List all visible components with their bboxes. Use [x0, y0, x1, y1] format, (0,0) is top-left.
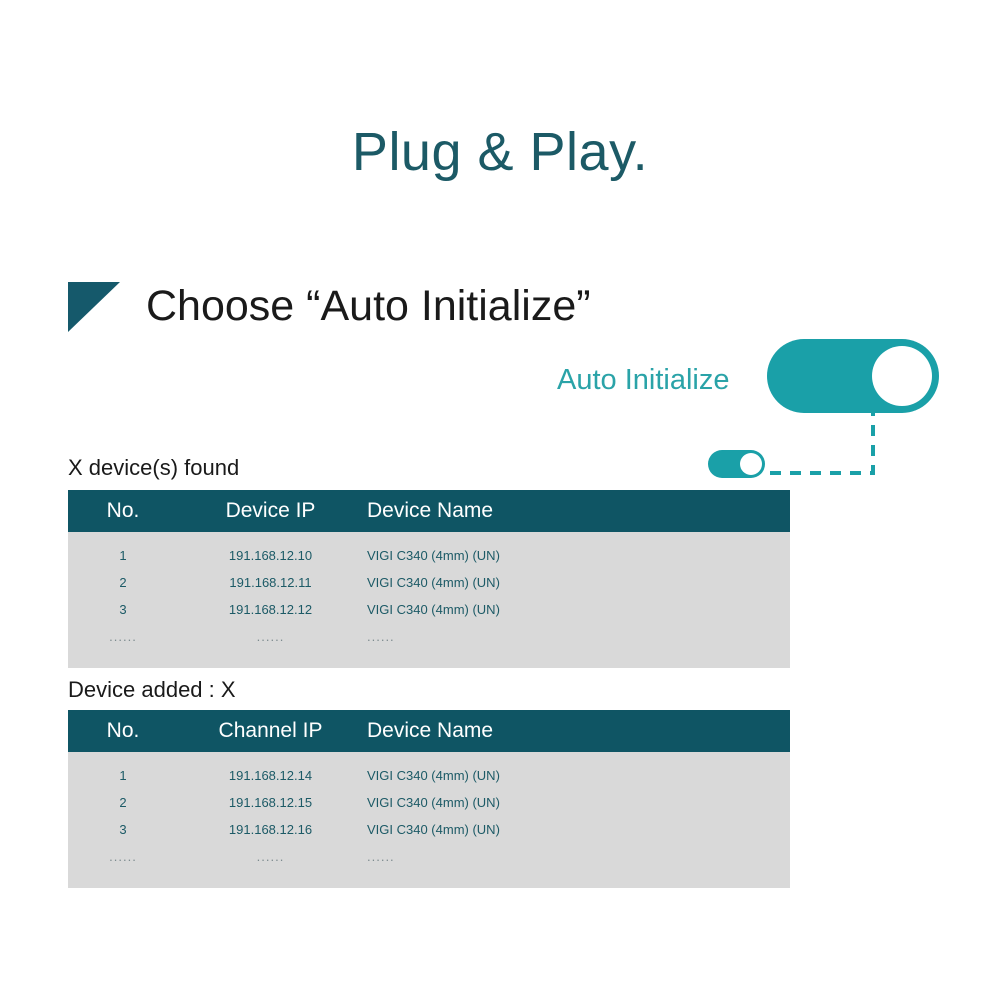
table-row-ellipsis: ...... ...... ......	[68, 843, 790, 870]
cell-name-ellipsis: ......	[363, 849, 627, 865]
table-header-row: No. Device IP Device Name	[68, 490, 790, 532]
callout-dashed-line	[760, 405, 890, 480]
cell-ip: 191.168.12.11	[178, 575, 363, 591]
table-row[interactable]: 1 191.168.12.10 VIGI C340 (4mm) (UN)	[68, 542, 790, 569]
column-header-no: No.	[68, 499, 178, 523]
cell-no: 1	[68, 548, 178, 564]
cell-ip: 191.168.12.14	[178, 768, 363, 784]
column-header-name: Device Name	[363, 719, 627, 743]
cell-no-ellipsis: ......	[68, 629, 178, 645]
cell-ip: 191.168.12.16	[178, 822, 363, 838]
cell-no: 2	[68, 575, 178, 591]
cell-no: 1	[68, 768, 178, 784]
devices-found-table: No. Device IP Device Name 1 191.168.12.1…	[68, 490, 790, 668]
cell-ip: 191.168.12.12	[178, 602, 363, 618]
toggle-knob-small	[740, 453, 762, 475]
cell-no-ellipsis: ......	[68, 849, 178, 865]
cell-name: VIGI C340 (4mm) (UN)	[363, 822, 627, 838]
table-row[interactable]: 3 191.168.12.12 VIGI C340 (4mm) (UN)	[68, 596, 790, 623]
device-list-toggle[interactable]	[708, 450, 765, 478]
section-heading-label: Choose “Auto Initialize”	[146, 281, 591, 331]
cell-name: VIGI C340 (4mm) (UN)	[363, 795, 627, 811]
device-added-table: No. Channel IP Device Name 1 191.168.12.…	[68, 710, 790, 888]
toggle-knob	[872, 346, 932, 406]
column-header-name: Device Name	[363, 499, 627, 523]
table-body: 1 191.168.12.14 VIGI C340 (4mm) (UN) 2 1…	[68, 752, 790, 888]
cell-ip: 191.168.12.15	[178, 795, 363, 811]
table-row[interactable]: 3 191.168.12.16 VIGI C340 (4mm) (UN)	[68, 816, 790, 843]
table-row-ellipsis: ...... ...... ......	[68, 623, 790, 650]
table-row[interactable]: 1 191.168.12.14 VIGI C340 (4mm) (UN)	[68, 762, 790, 789]
table-header-row: No. Channel IP Device Name	[68, 710, 790, 752]
device-added-caption: Device added : X	[68, 677, 236, 703]
cell-no: 3	[68, 822, 178, 838]
auto-initialize-toggle[interactable]	[767, 339, 939, 413]
triangle-flag-icon	[68, 282, 120, 332]
cell-name: VIGI C340 (4mm) (UN)	[363, 602, 627, 618]
section-heading: Choose “Auto Initialize”	[68, 281, 591, 332]
cell-name: VIGI C340 (4mm) (UN)	[363, 768, 627, 784]
table-row[interactable]: 2 191.168.12.15 VIGI C340 (4mm) (UN)	[68, 789, 790, 816]
column-header-no: No.	[68, 719, 178, 743]
column-header-channel-ip: Channel IP	[178, 719, 363, 743]
cell-name: VIGI C340 (4mm) (UN)	[363, 575, 627, 591]
cell-ip-ellipsis: ......	[178, 629, 363, 645]
cell-ip-ellipsis: ......	[178, 849, 363, 865]
devices-found-caption: X device(s) found	[68, 455, 239, 481]
cell-no: 2	[68, 795, 178, 811]
auto-initialize-label: Auto Initialize	[557, 363, 730, 397]
cell-name: VIGI C340 (4mm) (UN)	[363, 548, 627, 564]
cell-ip: 191.168.12.10	[178, 548, 363, 564]
column-header-ip: Device IP	[178, 499, 363, 523]
cell-no: 3	[68, 602, 178, 618]
table-body: 1 191.168.12.10 VIGI C340 (4mm) (UN) 2 1…	[68, 532, 790, 668]
page-title: Plug & Play.	[0, 120, 1000, 184]
table-row[interactable]: 2 191.168.12.11 VIGI C340 (4mm) (UN)	[68, 569, 790, 596]
cell-name-ellipsis: ......	[363, 629, 627, 645]
